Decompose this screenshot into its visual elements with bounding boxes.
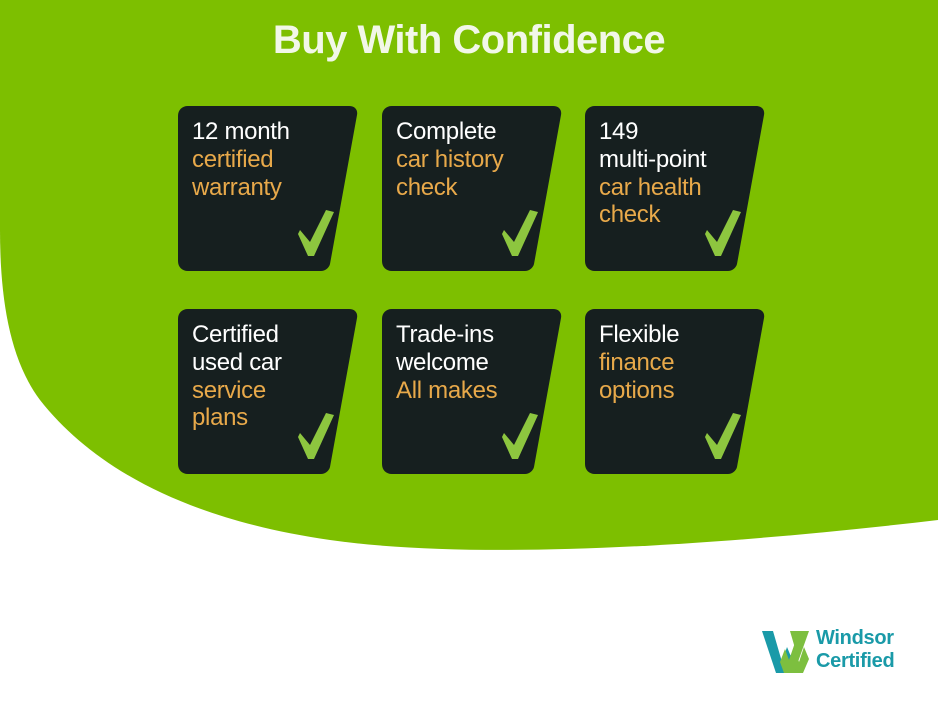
card-text: Flexible finance options — [599, 321, 751, 404]
card-line: Complete — [396, 118, 548, 146]
card-line: Flexible — [599, 321, 751, 349]
card-line: Certified — [192, 321, 344, 349]
feature-card-flexible-finance-options[interactable]: Flexible finance options — [585, 309, 765, 474]
card-line: Trade-ins — [396, 321, 548, 349]
card-line: check — [396, 174, 548, 202]
card-line: car health — [599, 174, 751, 202]
card-text: Trade-ins welcome All makes — [396, 321, 548, 404]
card-line: 149 — [599, 118, 751, 146]
card-line: All makes — [396, 377, 548, 405]
feature-card-12-month-certified-warranty[interactable]: 12 month certified warranty — [178, 106, 358, 271]
feature-card-certified-used-car-service-plans[interactable]: Certified used car service plans — [178, 309, 358, 474]
card-line: warranty — [192, 174, 344, 202]
card-line: multi-point — [599, 146, 751, 174]
logo-line-2: Certified — [816, 650, 894, 673]
check-icon — [701, 208, 745, 260]
card-line: service — [192, 377, 344, 405]
check-icon — [294, 208, 338, 260]
page-title: Buy With Confidence — [0, 18, 938, 63]
check-icon — [498, 411, 542, 463]
feature-card-trade-ins-welcome-all-makes[interactable]: Trade-ins welcome All makes — [382, 309, 562, 474]
card-line: certified — [192, 146, 344, 174]
windsor-certified-logo[interactable]: Windsor Certified — [760, 625, 930, 681]
card-line: used car — [192, 349, 344, 377]
logo-line-1: Windsor — [816, 627, 894, 650]
check-icon — [498, 208, 542, 260]
card-text: Complete car history check — [396, 118, 548, 201]
card-line: welcome — [396, 349, 548, 377]
windsor-w-icon — [760, 629, 812, 675]
feature-card-complete-car-history-check[interactable]: Complete car history check — [382, 106, 562, 271]
card-text: 12 month certified warranty — [192, 118, 344, 201]
logo-wordmark: Windsor Certified — [816, 627, 894, 673]
card-line: finance — [599, 349, 751, 377]
feature-card-149-multi-point-car-health-check[interactable]: 149 multi-point car health check — [585, 106, 765, 271]
card-line: car history — [396, 146, 548, 174]
check-icon — [701, 411, 745, 463]
check-icon — [294, 411, 338, 463]
card-line: options — [599, 377, 751, 405]
banner-canvas: Buy With Confidence 12 month certified w… — [0, 0, 938, 704]
card-line: 12 month — [192, 118, 344, 146]
